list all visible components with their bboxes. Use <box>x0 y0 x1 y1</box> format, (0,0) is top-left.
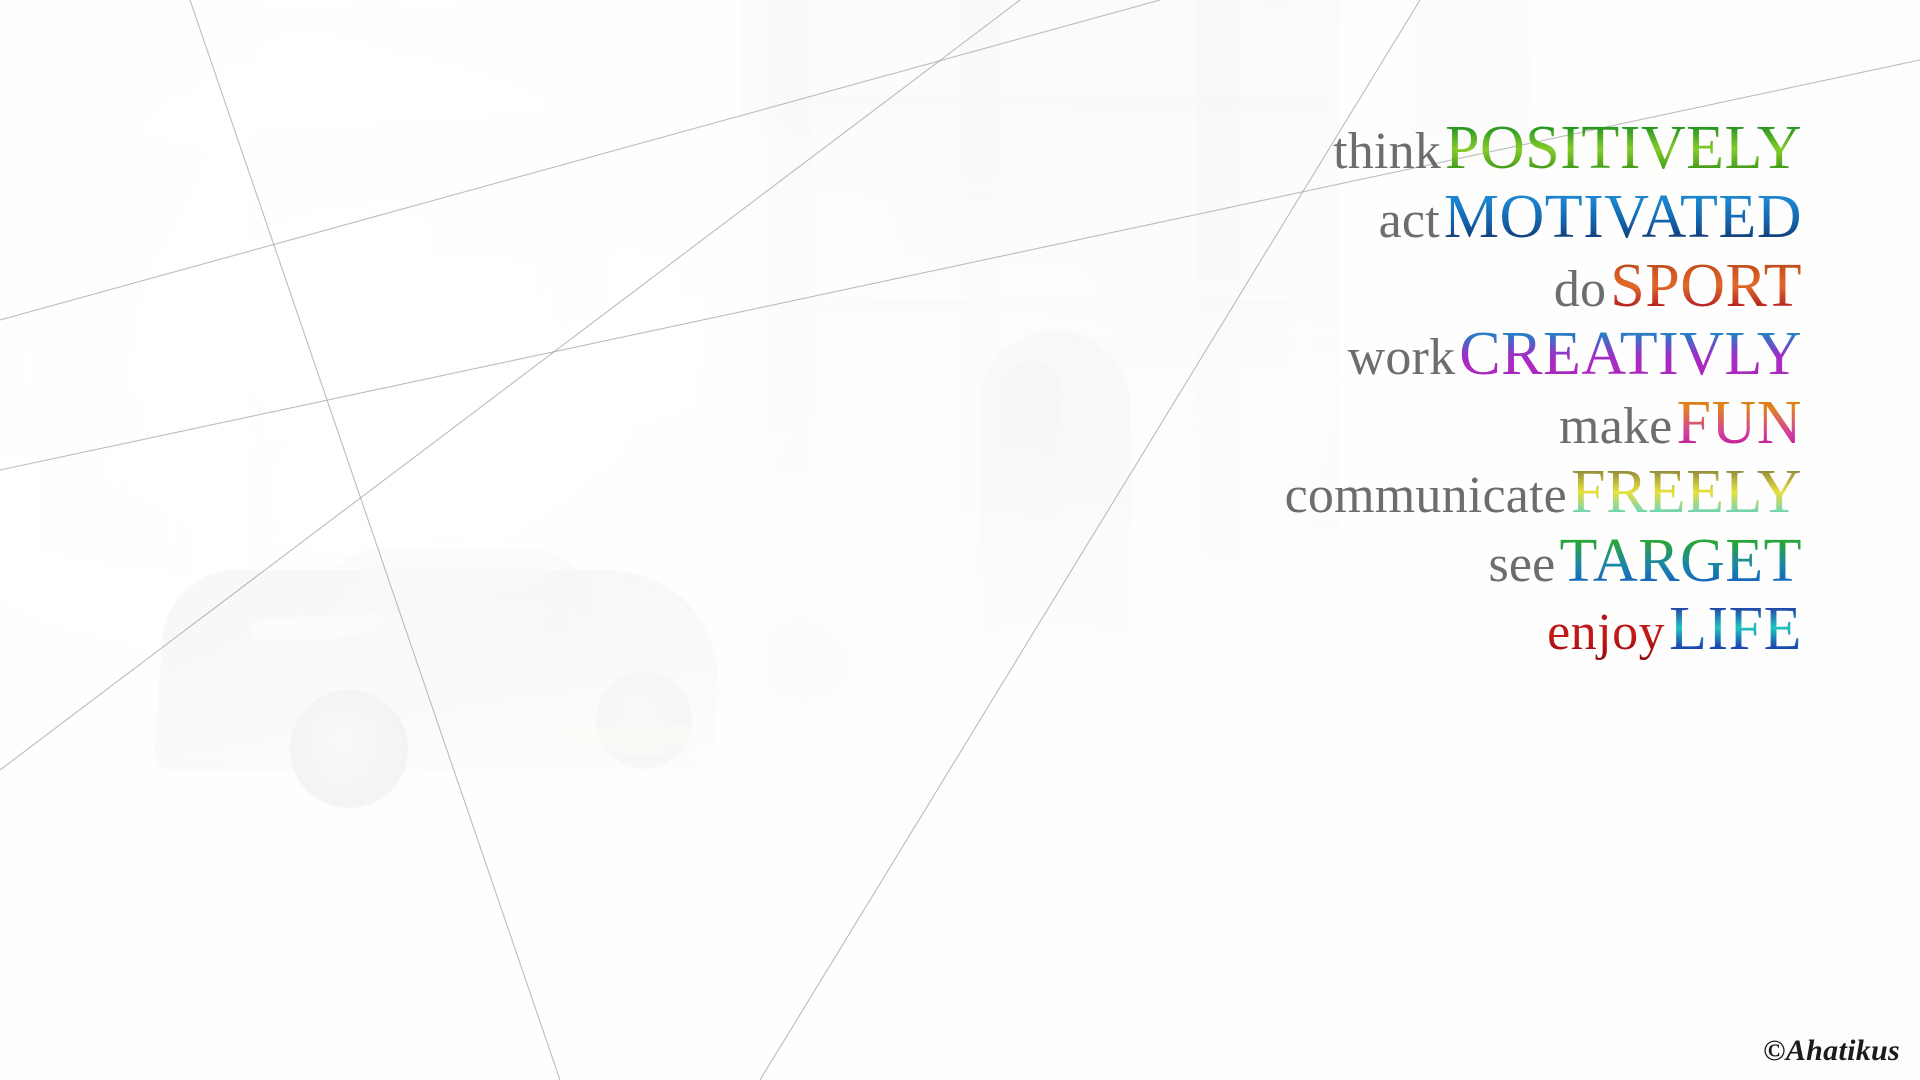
quote-prefix: work <box>1348 329 1456 386</box>
quote-prefix: do <box>1554 261 1606 318</box>
quote-line: see TARGET <box>902 531 1802 592</box>
quote-emphasis: POSITIVELY <box>1445 114 1802 182</box>
quote-prefix: act <box>1379 192 1440 249</box>
quote-block: think POSITIVELY act MOTIVATED do SPORT … <box>902 118 1802 668</box>
quote-line: make FUN <box>902 393 1802 454</box>
quote-prefix: enjoy <box>1547 604 1665 661</box>
quote-emphasis: FREELY <box>1571 458 1802 526</box>
shrub-shape <box>720 590 890 720</box>
image-canvas: think POSITIVELY act MOTIVATED do SPORT … <box>0 0 1920 1080</box>
car-front-wheel <box>290 690 408 808</box>
quote-prefix: make <box>1559 398 1672 455</box>
car-license-plate <box>564 726 695 756</box>
quote-emphasis: FUN <box>1676 389 1802 457</box>
facade-column-left <box>768 0 814 640</box>
quote-line: do SPORT <box>902 256 1802 317</box>
quote-prefix: think <box>1333 123 1441 180</box>
quote-line: think POSITIVELY <box>902 118 1802 179</box>
quote-line: enjoy LIFE <box>902 599 1802 660</box>
quote-emphasis: LIFE <box>1669 595 1802 663</box>
quote-emphasis: TARGET <box>1559 527 1802 595</box>
quote-emphasis: SPORT <box>1610 252 1802 320</box>
copyright-signature: ©Ahatikus <box>1763 1034 1900 1068</box>
quote-prefix: communicate <box>1285 467 1567 524</box>
quote-line: communicate FREELY <box>902 462 1802 523</box>
quote-line: act MOTIVATED <box>902 187 1802 248</box>
quote-prefix: see <box>1488 536 1555 593</box>
quote-line: work CREATIVLY <box>902 324 1802 385</box>
quote-emphasis: CREATIVLY <box>1459 320 1802 388</box>
ground-plane <box>0 760 1920 1080</box>
building-left-secondary-shape <box>40 122 270 588</box>
quote-emphasis: MOTIVATED <box>1444 183 1802 251</box>
